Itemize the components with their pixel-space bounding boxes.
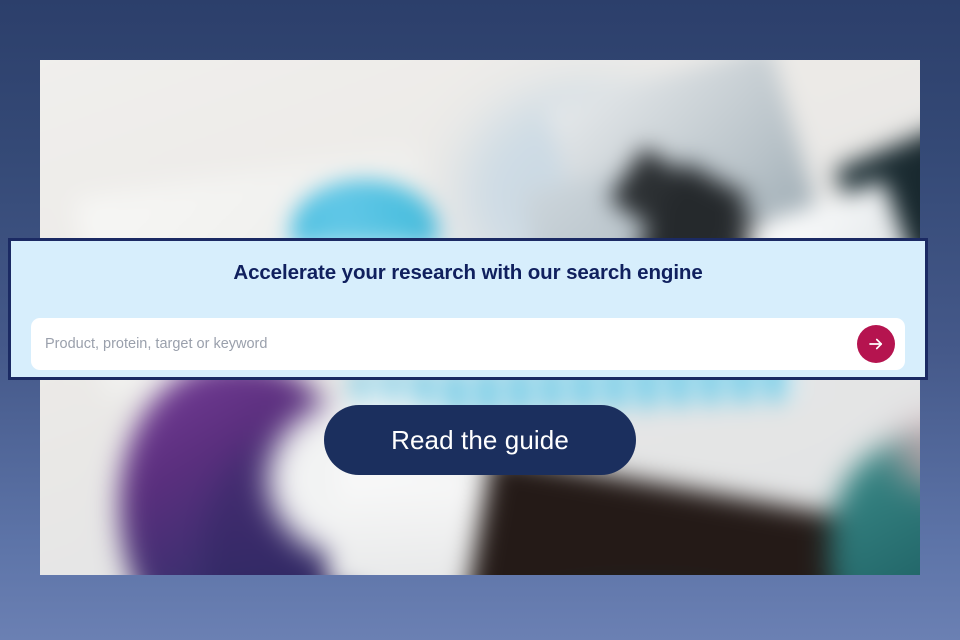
read-the-guide-button[interactable]: Read the guide xyxy=(324,405,636,475)
arrow-right-icon xyxy=(867,335,885,353)
page-root: Accelerate your research with our search… xyxy=(0,0,960,640)
search-submit-button[interactable] xyxy=(857,325,895,363)
search-bar[interactable] xyxy=(31,318,905,370)
search-input[interactable] xyxy=(31,318,857,370)
page-title: Accelerate your research with our search… xyxy=(11,241,925,285)
search-panel: Accelerate your research with our search… xyxy=(8,238,928,380)
